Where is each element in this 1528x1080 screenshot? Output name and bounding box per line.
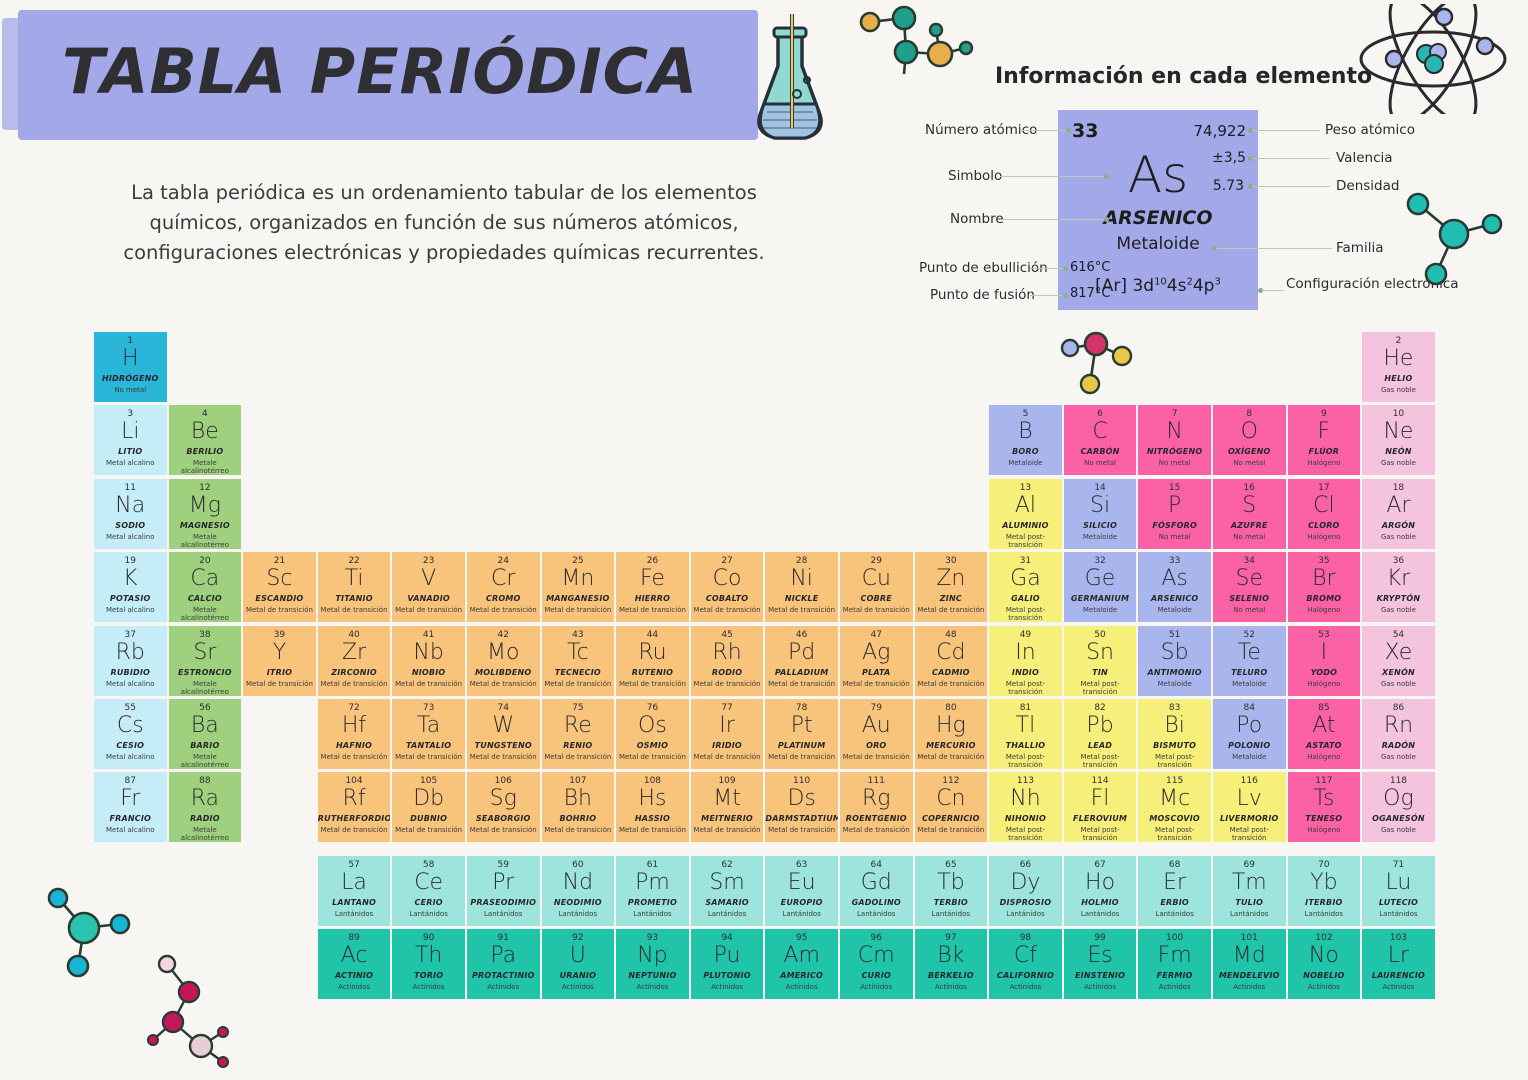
element-name: BERILIO <box>169 447 242 456</box>
element-cell-te[interactable]: 52TeTELUROMetaloide <box>1213 626 1286 696</box>
element-family: Lantánidos <box>1288 910 1361 918</box>
leader-dot <box>1063 266 1068 271</box>
element-family: Actínidos <box>1362 983 1435 991</box>
element-cell-sg[interactable]: 106SgSEABORGIOMetal de transición <box>467 772 540 842</box>
element-symbol: Cf <box>989 943 1062 968</box>
element-cell-xe[interactable]: 54XeXENÓNGas noble <box>1362 626 1435 696</box>
element-name: LAURENCIO <box>1362 971 1435 980</box>
element-symbol: Mt <box>691 786 764 811</box>
element-cell-ge[interactable]: 32GeGERMANIUMMetaloide <box>1064 552 1137 622</box>
element-cell-er[interactable]: 68ErERBIOLantánidos <box>1138 856 1211 926</box>
element-family: Metaloide <box>989 459 1062 467</box>
element-cell-k[interactable]: 19KPOTASIOMetal alcalino <box>94 552 167 622</box>
element-cell-zr[interactable]: 40ZrZIRCONIOMetal de transición <box>318 626 391 696</box>
element-cell-fe[interactable]: 26FeHIERROMetal de transición <box>616 552 689 622</box>
element-cell-se[interactable]: 34SeSELENIONo metal <box>1213 552 1286 622</box>
element-family: Metal de transición <box>765 753 838 761</box>
element-cell-tb[interactable]: 65TbTERBIOLantánidos <box>915 856 988 926</box>
element-cell-ru[interactable]: 44RuRUTENIOMetal de transición <box>616 626 689 696</box>
element-atomic-number: 49 <box>989 630 1062 640</box>
element-atomic-number: 101 <box>1213 933 1286 943</box>
element-atomic-number: 75 <box>542 703 615 713</box>
element-symbol: Bi <box>1138 713 1211 738</box>
element-name: KRYPTÓN <box>1362 594 1435 603</box>
element-family: Lantánidos <box>1138 910 1211 918</box>
element-cell-bh[interactable]: 107BhBOHRIOMetal de transición <box>542 772 615 842</box>
element-symbol: V <box>392 566 465 591</box>
element-cell-cn[interactable]: 112CnCOPERNICIOMetal de transición <box>915 772 988 842</box>
element-cell-y[interactable]: 39YITRIOMetal de transición <box>243 626 316 696</box>
element-name: PROMETIO <box>616 898 689 907</box>
element-atomic-number: 114 <box>1064 776 1137 786</box>
label-atomic-weight: Peso atómico <box>1325 122 1415 138</box>
element-cell-au[interactable]: 79AuOROMetal de transición <box>840 699 913 769</box>
element-symbol: U <box>542 943 615 968</box>
element-cell-ba[interactable]: 56BaBARIOMetale alcalinotérreo <box>169 699 242 769</box>
element-cell-br[interactable]: 35BrBROMOHalógeno <box>1288 552 1361 622</box>
element-symbol: La <box>318 870 391 895</box>
element-symbol: Fe <box>616 566 689 591</box>
element-family: Metal post-transición <box>989 533 1062 549</box>
element-cell-v[interactable]: 23VVANADIOMetal de transición <box>392 552 465 622</box>
element-cell-ts[interactable]: 117TsTENESOHalógeno <box>1288 772 1361 842</box>
element-family: Actínidos <box>392 983 465 991</box>
element-atomic-number: 43 <box>542 630 615 640</box>
element-family: Lantánidos <box>467 910 540 918</box>
element-family: Lantánidos <box>1064 910 1137 918</box>
element-family: Metal de transición <box>616 680 689 688</box>
element-cell-ca[interactable]: 20CaCALCIOMetale alcalinotérreo <box>169 552 242 622</box>
element-cell-th[interactable]: 90ThTORIOActínidos <box>392 929 465 999</box>
element-cell-f[interactable]: 9FFLÚORHalógeno <box>1288 405 1361 475</box>
sample-atomic-weight: 74,922 <box>1194 122 1247 140</box>
element-cell-hs[interactable]: 108HsHASSIOMetal de transición <box>616 772 689 842</box>
element-name: ROENTGENIO <box>840 814 913 823</box>
element-symbol: As <box>1138 566 1211 591</box>
element-family: Metal alcalino <box>94 753 167 761</box>
element-atomic-number: 63 <box>765 860 838 870</box>
element-cell-ir[interactable]: 77IrIRIDIOMetal de transición <box>691 699 764 769</box>
element-cell-p[interactable]: 15PFÓSFORONo metal <box>1138 479 1211 549</box>
element-name: CALIFORNIO <box>989 971 1062 980</box>
element-symbol: B <box>989 419 1062 444</box>
element-cell-ag[interactable]: 47AgPLATAMetal de transición <box>840 626 913 696</box>
element-cell-po[interactable]: 84PoPOLONIOMetaloide <box>1213 699 1286 769</box>
element-cell-pr[interactable]: 59PrPRASEODIMIOLantánidos <box>467 856 540 926</box>
element-cell-i[interactable]: 53IYODOHalógeno <box>1288 626 1361 696</box>
element-family: Halógeno <box>1288 533 1361 541</box>
element-name: NOBELIO <box>1288 971 1361 980</box>
element-cell-bk[interactable]: 97BkBERKELIOActínidos <box>915 929 988 999</box>
element-name: PALLADIUM <box>765 668 838 677</box>
element-cell-lv[interactable]: 116LvLIVERMORIOMetal post-transición <box>1213 772 1286 842</box>
element-family: Metal de transición <box>467 753 540 761</box>
element-cell-cs[interactable]: 55CsCESIOMetal alcalino <box>94 699 167 769</box>
element-cell-in[interactable]: 49InINDIOMetal post-transición <box>989 626 1062 696</box>
element-cell-mt[interactable]: 109MtMEITNERIOMetal de transición <box>691 772 764 842</box>
element-symbol: He <box>1362 346 1435 371</box>
element-atomic-number: 50 <box>1064 630 1137 640</box>
element-cell-u[interactable]: 92UURANIOActínidos <box>542 929 615 999</box>
leader-dot <box>1063 293 1068 298</box>
element-name: POLONIO <box>1213 741 1286 750</box>
element-cell-o[interactable]: 8OOXÍGENONo metal <box>1213 405 1286 475</box>
element-cell-ho[interactable]: 67HoHOLMIOLantánidos <box>1064 856 1137 926</box>
element-cell-al[interactable]: 13AlALUMINIOMetal post-transición <box>989 479 1062 549</box>
element-atomic-number: 112 <box>915 776 988 786</box>
element-symbol: Zr <box>318 640 391 665</box>
element-name: NICKLE <box>765 594 838 603</box>
element-family: Metal de transición <box>616 606 689 614</box>
leader-line <box>1262 290 1284 291</box>
element-cell-s[interactable]: 16SAZUFRENo metal <box>1213 479 1286 549</box>
leader-line <box>1252 158 1330 159</box>
element-cell-rh[interactable]: 45RhRODIOMetal de transición <box>691 626 764 696</box>
element-cell-ni[interactable]: 28NiNICKLEMetal de transición <box>765 552 838 622</box>
element-family: Metal de transición <box>915 753 988 761</box>
element-family: Halógeno <box>1288 459 1361 467</box>
element-cell-db[interactable]: 105DbDUBNIOMetal de transición <box>392 772 465 842</box>
element-cell-ti[interactable]: 22TiTITANIOMetal de transición <box>318 552 391 622</box>
element-symbol: Th <box>392 943 465 968</box>
element-atomic-number: 91 <box>467 933 540 943</box>
element-symbol: Co <box>691 566 764 591</box>
element-symbol: Lu <box>1362 870 1435 895</box>
element-cell-nh[interactable]: 113NhNIHONIOMetal post-transición <box>989 772 1062 842</box>
element-symbol: Nd <box>542 870 615 895</box>
element-cell-ra[interactable]: 88RaRADIOMetale alcalinotérreo <box>169 772 242 842</box>
element-cell-rg[interactable]: 111RgROENTGENIOMetal de transición <box>840 772 913 842</box>
element-name: CALCIO <box>169 594 242 603</box>
element-symbol: Be <box>169 419 242 444</box>
element-family: Metal post-transición <box>1213 826 1286 842</box>
element-cell-ds[interactable]: 110DsDARMSTADTIUMMetal de transición <box>765 772 838 842</box>
element-cell-cm[interactable]: 96CmCURIOActínidos <box>840 929 913 999</box>
element-cell-mg[interactable]: 12MgMAGNESIOMetale alcalinotérreo <box>169 479 242 549</box>
element-symbol: Ba <box>169 713 242 738</box>
element-cell-tm[interactable]: 69TmTULIOLantánidos <box>1213 856 1286 926</box>
element-family: Actínidos <box>915 983 988 991</box>
element-cell-cu[interactable]: 29CuCOBREMetal de transición <box>840 552 913 622</box>
element-cell-pu[interactable]: 94PuPLUTONIOActínidos <box>691 929 764 999</box>
element-cell-rb[interactable]: 37RbRUBIDIOMetal alcalino <box>94 626 167 696</box>
element-name: ESTRONCIO <box>169 668 242 677</box>
element-cell-tc[interactable]: 43TcTECNECIOMetal de transición <box>542 626 615 696</box>
element-atomic-number: 73 <box>392 703 465 713</box>
page-title: TABLA PERIÓDICA <box>62 24 722 120</box>
element-name: TULIO <box>1213 898 1286 907</box>
element-cell-mc[interactable]: 115McMOSCOVIOMetal post-transición <box>1138 772 1211 842</box>
element-name: PRASEODIMIO <box>467 898 540 907</box>
element-cell-ne[interactable]: 10NeNEÓNGas noble <box>1362 405 1435 475</box>
element-cell-la[interactable]: 57LaLANTANOLantánidos <box>318 856 391 926</box>
element-cell-rn[interactable]: 86RnRADÓNGas noble <box>1362 699 1435 769</box>
element-cell-dy[interactable]: 66DyDISPROSIOLantánidos <box>989 856 1062 926</box>
element-cell-am[interactable]: 95AmAMERICOActínidos <box>765 929 838 999</box>
element-cell-c[interactable]: 6CCARBÓNNo metal <box>1064 405 1137 475</box>
element-family: Metal de transición <box>243 606 316 614</box>
element-family: Metale alcalinotérreo <box>169 533 242 549</box>
element-family: Metale alcalinotérreo <box>169 680 242 696</box>
element-family: Metal alcalino <box>94 459 167 467</box>
element-atomic-number: 14 <box>1064 483 1137 493</box>
element-family: Metal de transición <box>467 606 540 614</box>
element-cell-yb[interactable]: 70YbITERBIOLantánidos <box>1288 856 1361 926</box>
element-cell-md[interactable]: 101MdMENDELEVIOActínidos <box>1213 929 1286 999</box>
element-atomic-number: 8 <box>1213 409 1286 419</box>
element-family: No metal <box>1138 459 1211 467</box>
element-cell-sn[interactable]: 50SnTINMetal post-transición <box>1064 626 1137 696</box>
element-atomic-number: 55 <box>94 703 167 713</box>
element-cell-b[interactable]: 5BBOROMetaloide <box>989 405 1062 475</box>
sample-symbol: As <box>1058 146 1258 204</box>
element-family: Actínidos <box>542 983 615 991</box>
element-family: Metaloide <box>1213 680 1286 688</box>
element-cell-cf[interactable]: 98CfCALIFORNIOActínidos <box>989 929 1062 999</box>
element-name: RADIO <box>169 814 242 823</box>
element-name: CARBÓN <box>1064 447 1137 456</box>
element-cell-sb[interactable]: 51SbANTIMONIOMetaloide <box>1138 626 1211 696</box>
element-symbol: Ge <box>1064 566 1137 591</box>
sample-atomic-number: 33 <box>1072 120 1098 142</box>
leader-dot <box>1066 128 1071 133</box>
element-atomic-number: 92 <box>542 933 615 943</box>
element-family: Metaloide <box>1064 606 1137 614</box>
element-cell-re[interactable]: 75ReRENIOMetal de transición <box>542 699 615 769</box>
element-family: Metal alcalino <box>94 533 167 541</box>
element-atomic-number: 9 <box>1288 409 1361 419</box>
element-cell-w[interactable]: 74WTUNGSTENOMetal de transición <box>467 699 540 769</box>
element-cell-li[interactable]: 3LiLITIOMetal alcalino <box>94 405 167 475</box>
element-name: ZINC <box>915 594 988 603</box>
element-cell-n[interactable]: 7NNITRÓGENONo metal <box>1138 405 1211 475</box>
leader-dot <box>1104 174 1109 179</box>
element-symbol: K <box>94 566 167 591</box>
element-name: MOLIBDENO <box>467 668 540 677</box>
element-cell-pd[interactable]: 46PdPALLADIUMMetal de transición <box>765 626 838 696</box>
element-cell-ce[interactable]: 58CeCERIOLantánidos <box>392 856 465 926</box>
element-family: Actínidos <box>318 983 391 991</box>
element-cell-cr[interactable]: 24CrCROMOMetal de transición <box>467 552 540 622</box>
element-name: PROTACTINIO <box>467 971 540 980</box>
element-name: ESCANDIO <box>243 594 316 603</box>
element-atomic-number: 72 <box>318 703 391 713</box>
element-cell-ga[interactable]: 31GaGALIOMetal post-transición <box>989 552 1062 622</box>
element-family: Gas noble <box>1362 386 1435 394</box>
element-atomic-number: 105 <box>392 776 465 786</box>
element-cell-no[interactable]: 102NoNOBELIOActínidos <box>1288 929 1361 999</box>
element-family: Metal de transición <box>542 826 615 834</box>
element-cell-lr[interactable]: 103LrLAURENCIOActínidos <box>1362 929 1435 999</box>
element-cell-na[interactable]: 11NaSODIOMetal alcalino <box>94 479 167 549</box>
element-cell-es[interactable]: 99EsEINSTENIOActínidos <box>1064 929 1137 999</box>
element-symbol: Es <box>1064 943 1137 968</box>
element-cell-pt[interactable]: 78PtPLATINUMMetal de transición <box>765 699 838 769</box>
label-density: Densidad <box>1336 178 1399 194</box>
element-cell-pb[interactable]: 82PbLEADMetal post-transición <box>1064 699 1137 769</box>
element-name: MENDELEVIO <box>1213 971 1286 980</box>
element-cell-pa[interactable]: 91PaPROTACTINIOActínidos <box>467 929 540 999</box>
element-name: LANTANO <box>318 898 391 907</box>
element-name: GADOLINO <box>840 898 913 907</box>
element-cell-sr[interactable]: 38SrESTRONCIOMetale alcalinotérreo <box>169 626 242 696</box>
element-name: XENÓN <box>1362 668 1435 677</box>
element-name: RUBIDIO <box>94 668 167 677</box>
label-valence: Valencia <box>1336 150 1393 166</box>
element-name: MEITNERIO <box>691 814 764 823</box>
element-cell-ar[interactable]: 18ArARGÓNGas noble <box>1362 479 1435 549</box>
element-atomic-number: 67 <box>1064 860 1137 870</box>
element-symbol: Ar <box>1362 493 1435 518</box>
element-name: SAMARIO <box>691 898 764 907</box>
element-atomic-number: 6 <box>1064 409 1137 419</box>
element-symbol: Ce <box>392 870 465 895</box>
element-cell-hf[interactable]: 72HfHAFNIOMetal de transición <box>318 699 391 769</box>
element-name: NEPTUNIO <box>616 971 689 980</box>
element-family: Metal post-transición <box>989 826 1062 842</box>
element-cell-pm[interactable]: 61PmPROMETIOLantánidos <box>616 856 689 926</box>
element-atomic-number: 53 <box>1288 630 1361 640</box>
element-family: Actínidos <box>1288 983 1361 991</box>
element-symbol: Sb <box>1138 640 1211 665</box>
element-cell-si[interactable]: 14SiSILICIOMetaloide <box>1064 479 1137 549</box>
element-symbol: I <box>1288 640 1361 665</box>
element-family: Metal de transición <box>915 606 988 614</box>
element-cell-mo[interactable]: 42MoMOLIBDENOMetal de transición <box>467 626 540 696</box>
element-cell-kr[interactable]: 36KrKRYPTÓNGas noble <box>1362 552 1435 622</box>
element-symbol: Si <box>1064 493 1137 518</box>
element-family: Metal de transición <box>765 826 838 834</box>
sample-name: ARSENICO <box>1058 207 1258 229</box>
element-atomic-number: 22 <box>318 556 391 566</box>
element-cell-og[interactable]: 118OgOGANESÓNGas noble <box>1362 772 1435 842</box>
element-family: No metal <box>1213 606 1286 614</box>
element-cell-fl[interactable]: 114FlFLEROVIUMMetal post-transición <box>1064 772 1137 842</box>
element-cell-as[interactable]: 33AsARSENICOMetaloide <box>1138 552 1211 622</box>
element-atomic-number: 80 <box>915 703 988 713</box>
element-symbol: Hs <box>616 786 689 811</box>
element-symbol: Y <box>243 640 316 665</box>
element-family: Metal de transición <box>318 753 391 761</box>
element-atomic-number: 32 <box>1064 556 1137 566</box>
element-name: AZUFRE <box>1213 521 1286 530</box>
element-name: HOLMIO <box>1064 898 1137 907</box>
element-atomic-number: 41 <box>392 630 465 640</box>
element-cell-at[interactable]: 85AtASTATOHalógeno <box>1288 699 1361 769</box>
element-cell-cd[interactable]: 48CdCADMIOMetal de transición <box>915 626 988 696</box>
element-cell-nd[interactable]: 60NdNEODIMIOLantánidos <box>542 856 615 926</box>
element-family: Metal de transición <box>616 826 689 834</box>
element-atomic-number: 45 <box>691 630 764 640</box>
element-symbol: In <box>989 640 1062 665</box>
element-atomic-number: 40 <box>318 630 391 640</box>
element-symbol: Hg <box>915 713 988 738</box>
element-name: URANIO <box>542 971 615 980</box>
element-cell-ac[interactable]: 89AcACTINIOActínidos <box>318 929 391 999</box>
element-cell-zn[interactable]: 30ZnZINCMetal de transición <box>915 552 988 622</box>
element-cell-fm[interactable]: 100FmFERMIOActínidos <box>1138 929 1211 999</box>
element-cell-co[interactable]: 27CoCOBALTOMetal de transición <box>691 552 764 622</box>
molecule-top-right-icon <box>1396 182 1516 292</box>
element-family: Actínidos <box>616 983 689 991</box>
element-cell-cl[interactable]: 17ClCLOROHalógeno <box>1288 479 1361 549</box>
element-name: HIDRÓGENO <box>94 374 167 383</box>
element-cell-bi[interactable]: 83BiBISMUTOMetal post-transición <box>1138 699 1211 769</box>
element-symbol: Tm <box>1213 870 1286 895</box>
element-atomic-number: 95 <box>765 933 838 943</box>
element-family: No metal <box>1213 533 1286 541</box>
element-atomic-number: 64 <box>840 860 913 870</box>
element-atomic-number: 74 <box>467 703 540 713</box>
element-cell-os[interactable]: 76OsOSMIOMetal de transición <box>616 699 689 769</box>
element-symbol: Ta <box>392 713 465 738</box>
element-family: Metal post-transición <box>989 753 1062 769</box>
element-cell-np[interactable]: 93NpNEPTUNIOActínidos <box>616 929 689 999</box>
element-cell-sc[interactable]: 21ScESCANDIOMetal de transición <box>243 552 316 622</box>
element-family: Gas noble <box>1362 680 1435 688</box>
element-symbol: Rb <box>94 640 167 665</box>
element-name: BISMUTO <box>1138 741 1211 750</box>
element-atomic-number: 35 <box>1288 556 1361 566</box>
element-family: Actínidos <box>1213 983 1286 991</box>
element-atomic-number: 85 <box>1288 703 1361 713</box>
element-family: Gas noble <box>1362 826 1435 834</box>
element-cell-fr[interactable]: 87FrFRANCIOMetal alcalino <box>94 772 167 842</box>
element-name: TITANIO <box>318 594 391 603</box>
element-cell-ta[interactable]: 73TaTANTALIOMetal de transición <box>392 699 465 769</box>
element-cell-nb[interactable]: 41NbNIOBIOMetal de transición <box>392 626 465 696</box>
element-name: MANGANESIO <box>542 594 615 603</box>
element-family: Metal de transición <box>840 606 913 614</box>
element-atomic-number: 111 <box>840 776 913 786</box>
element-atomic-number: 99 <box>1064 933 1137 943</box>
element-atomic-number: 98 <box>989 933 1062 943</box>
element-cell-he[interactable]: 2HeHELIOGas noble <box>1362 332 1435 402</box>
element-family: Metal de transición <box>691 753 764 761</box>
element-name: GERMANIUM <box>1064 594 1137 603</box>
element-atomic-number: 70 <box>1288 860 1361 870</box>
element-atomic-number: 20 <box>169 556 242 566</box>
element-family: Lantánidos <box>318 910 391 918</box>
element-name: CESIO <box>94 741 167 750</box>
element-family: Metal de transición <box>243 680 316 688</box>
element-cell-lu[interactable]: 71LuLUTECIOLantánidos <box>1362 856 1435 926</box>
element-family: Metal alcalino <box>94 826 167 834</box>
legend-title: Información en cada elemento <box>995 64 1372 89</box>
element-name: LEAD <box>1064 741 1137 750</box>
element-cell-eu[interactable]: 63EuEUROPIOLantánidos <box>765 856 838 926</box>
element-cell-tl[interactable]: 81TlTHALLIOMetal post-transición <box>989 699 1062 769</box>
sample-boiling-point: 616°C <box>1070 260 1110 275</box>
element-atomic-number: 60 <box>542 860 615 870</box>
element-cell-be[interactable]: 4BeBERILIOMetale alcalinotérreo <box>169 405 242 475</box>
element-name: ARGÓN <box>1362 521 1435 530</box>
element-cell-rf[interactable]: 104RfRUTHERFORDIOMetal de transición <box>318 772 391 842</box>
element-cell-gd[interactable]: 64GdGADOLINOLantánidos <box>840 856 913 926</box>
element-family: Halógeno <box>1288 826 1361 834</box>
element-atomic-number: 37 <box>94 630 167 640</box>
element-atomic-number: 113 <box>989 776 1062 786</box>
element-cell-h[interactable]: 1HHIDRÓGENONo metal <box>94 332 167 402</box>
element-family: Metal de transición <box>840 753 913 761</box>
element-name: NIHONIO <box>989 814 1062 823</box>
element-family: Metal post-transición <box>1064 826 1137 842</box>
element-atomic-number: 57 <box>318 860 391 870</box>
element-cell-mn[interactable]: 25MnMANGANESIOMetal de transición <box>542 552 615 622</box>
element-cell-sm[interactable]: 62SmSAMARIOLantánidos <box>691 856 764 926</box>
element-cell-hg[interactable]: 80HgMERCURIOMetal de transición <box>915 699 988 769</box>
element-symbol: Fl <box>1064 786 1137 811</box>
